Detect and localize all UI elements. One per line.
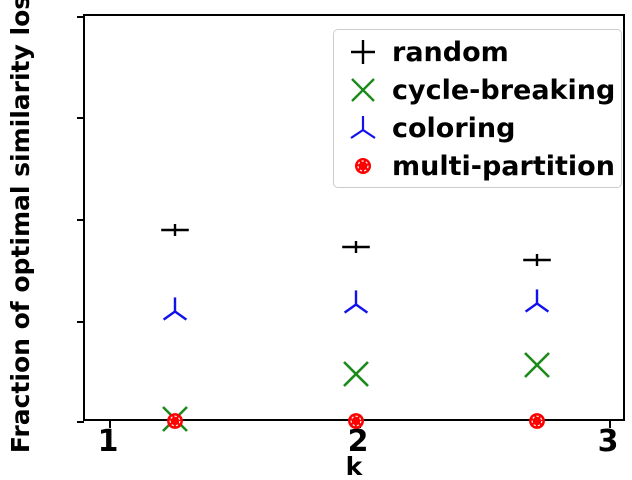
data-point-coloring-k2 bbox=[341, 288, 371, 318]
legend-label-random: random bbox=[392, 39, 509, 66]
legend-label-multi-partition: multi-partition bbox=[392, 153, 615, 180]
data-point-random-k3 bbox=[522, 245, 552, 275]
legend-label-cycle-breaking: cycle-breaking bbox=[392, 77, 615, 104]
data-point-cycle-breaking-k2 bbox=[341, 359, 371, 389]
x-tick-mark bbox=[109, 421, 111, 428]
y-tick-mark bbox=[77, 321, 84, 323]
x-icon bbox=[334, 71, 392, 109]
data-point-multi-partition-k2 bbox=[344, 409, 368, 433]
data-point-cycle-breaking-k3 bbox=[522, 350, 552, 380]
data-point-coloring-k3 bbox=[522, 287, 552, 317]
tri-down-icon bbox=[334, 109, 392, 147]
circle-icon bbox=[334, 147, 392, 185]
y-tick-mark bbox=[77, 421, 84, 423]
y-tick-mark bbox=[77, 16, 84, 18]
legend-entry-random[interactable]: random bbox=[334, 33, 621, 71]
y-tick-mark bbox=[77, 219, 84, 221]
x-axis-label: k bbox=[83, 452, 625, 480]
legend-entry-coloring[interactable]: coloring bbox=[334, 109, 621, 147]
data-point-random-k2 bbox=[341, 232, 371, 262]
y-tick-mark bbox=[77, 117, 84, 119]
legend-entry-multi-partition[interactable]: multi-partition bbox=[334, 147, 621, 185]
chart-figure: Fraction of optimal similarity lost 0.4 … bbox=[0, 0, 632, 480]
data-point-multi-partition-k1 bbox=[163, 409, 187, 433]
data-point-coloring-k1 bbox=[160, 295, 190, 325]
legend-entry-cycle-breaking[interactable]: cycle-breaking bbox=[334, 71, 621, 109]
legend[interactable]: random cycle-breaking coloring bbox=[333, 29, 622, 188]
y-axis-label: Fraction of optimal similarity lost bbox=[3, 0, 37, 438]
x-tick-mark bbox=[609, 421, 611, 428]
plus-icon bbox=[334, 33, 392, 71]
legend-label-coloring: coloring bbox=[392, 115, 515, 142]
data-point-multi-partition-k3 bbox=[525, 409, 549, 433]
data-point-random-k1 bbox=[160, 215, 190, 245]
